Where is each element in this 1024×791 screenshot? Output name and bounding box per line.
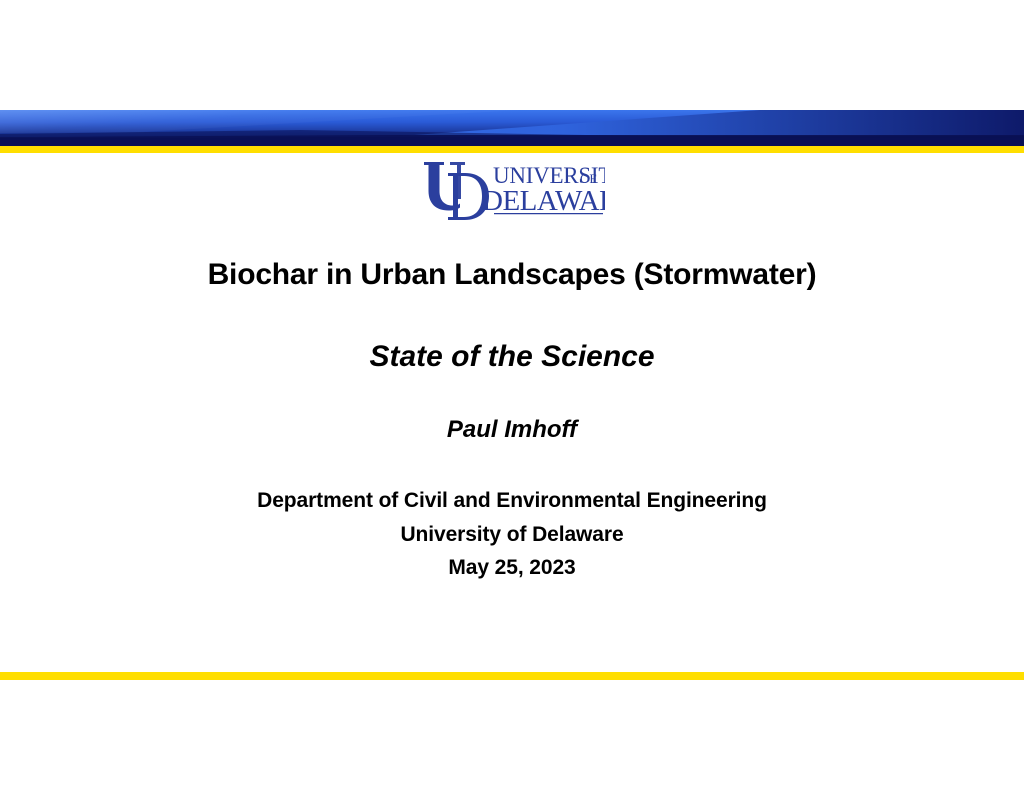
affiliation-institution: University of Delaware (0, 518, 1024, 552)
header-banner (0, 110, 1024, 153)
banner-swoosh-graphic (0, 110, 1024, 146)
banner-accent-rule (0, 146, 1024, 153)
affiliation-department: Department of Civil and Environmental En… (0, 484, 1024, 518)
presentation-title-slide: UNIVERSITY OF DELAWARE Biochar in Urban … (0, 0, 1024, 791)
affiliation-block: Department of Civil and Environmental En… (0, 484, 1024, 585)
logo-line-delaware: DELAWARE (482, 185, 605, 217)
logo-line-of: OF (580, 171, 597, 186)
footer-accent-rule (0, 672, 1024, 680)
logo-underline (494, 213, 603, 214)
presentation-date: May 25, 2023 (0, 551, 1024, 585)
page-title: Biochar in Urban Landscapes (Stormwater) (0, 258, 1024, 292)
logo-container: UNIVERSITY OF DELAWARE (0, 158, 1024, 224)
university-of-delaware-logo: UNIVERSITY OF DELAWARE (419, 158, 605, 224)
title-text-block: Biochar in Urban Landscapes (Stormwater)… (0, 258, 1024, 585)
author-name: Paul Imhoff (0, 417, 1024, 444)
slide-subtitle: State of the Science (0, 340, 1024, 374)
